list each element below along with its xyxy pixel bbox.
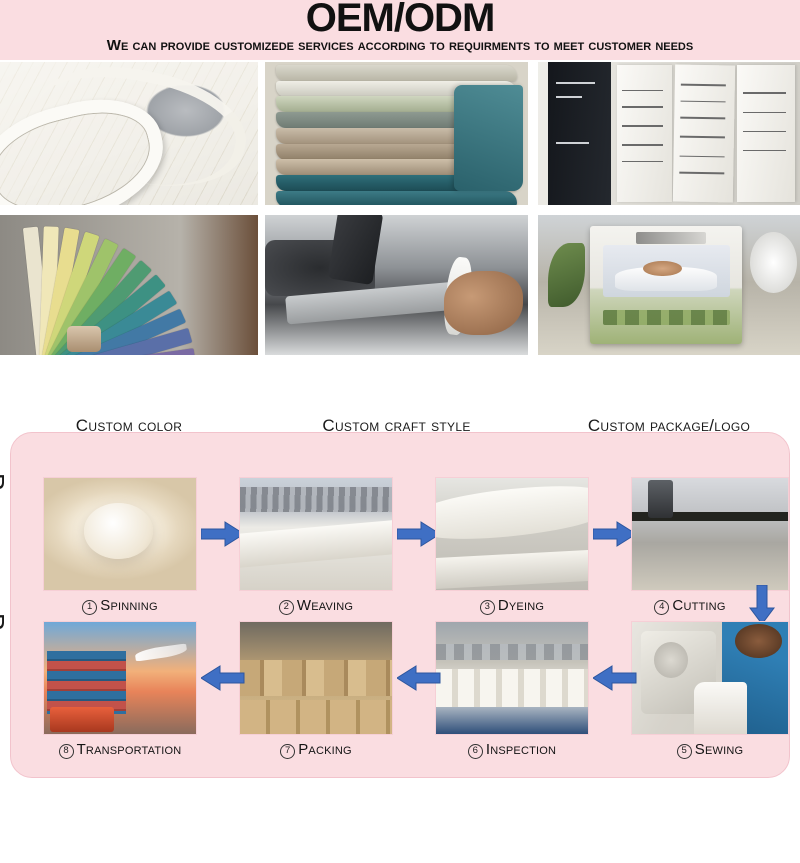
measuring-tape-graphic — [0, 62, 258, 205]
step-number-3: 3 — [480, 600, 495, 615]
step-number-8: 8 — [59, 744, 74, 759]
step-number-1: 1 — [82, 600, 97, 615]
pillow-package-box-graphic — [538, 215, 800, 355]
folded-fabric-graphic — [265, 62, 528, 205]
shipping-transport-graphic — [44, 622, 196, 734]
page-subtitle: We can provide customizede services acco… — [0, 38, 800, 54]
weaving-image — [239, 477, 393, 591]
step-text-cutting: Cutting — [672, 597, 725, 614]
color-fan-deck-graphic — [0, 215, 258, 355]
step-label-spinning: 1Spinning — [43, 597, 197, 615]
step-number-4: 4 — [654, 600, 669, 615]
step-number-6: 6 — [468, 744, 483, 759]
oem-odm-banner: OEM/ODM We can provide customizede servi… — [0, 0, 800, 60]
step-label-weaving: 2Weaving — [239, 597, 393, 615]
dyeing-machine-graphic — [436, 478, 588, 590]
step-text-packing: Packing — [298, 741, 352, 758]
step-label-dyeing: 3Dyeing — [435, 597, 589, 615]
step-number-2: 2 — [279, 600, 294, 615]
weaving-loom-graphic — [240, 478, 392, 590]
custom-package-logo-image — [538, 215, 800, 355]
step-label-inspection: 6Inspection — [435, 741, 589, 759]
step-label-sewing: 5Sewing — [631, 741, 789, 759]
sewing-craft-machine-graphic — [265, 215, 528, 355]
cutting-image — [631, 477, 789, 591]
custom-capabilities-grid: Custom size Custom fabric Custom label — [0, 60, 800, 390]
custom-size-image — [0, 62, 258, 205]
step-text-sewing: Sewing — [695, 741, 743, 758]
step-label-packing: 7Packing — [239, 741, 393, 759]
step-text-transportation: Transportation — [77, 741, 182, 758]
page-title: OEM/ODM — [0, 0, 800, 38]
step-text-dyeing: Dyeing — [498, 597, 544, 614]
step-text-inspection: Inspection — [486, 741, 556, 758]
arrow-down-1 — [749, 585, 775, 625]
step-label-cutting: 4Cutting — [623, 597, 757, 615]
sewing-image — [631, 621, 789, 735]
inspection-image — [435, 621, 589, 735]
inspection-line-graphic — [436, 622, 588, 734]
process-vertical-title-process: Process — [0, 613, 10, 863]
step-number-7: 7 — [280, 744, 295, 759]
transportation-image — [43, 621, 197, 735]
step-label-transportation: 8Transportation — [25, 741, 215, 759]
sewing-worker-graphic — [632, 622, 788, 734]
spinning-image — [43, 477, 197, 591]
packing-image — [239, 621, 393, 735]
step-number-5: 5 — [677, 744, 692, 759]
fiber-spinning-graphic — [44, 478, 196, 590]
arrow-left-2 — [397, 665, 441, 691]
warehouse-packing-graphic — [240, 622, 392, 734]
step-text-weaving: Weaving — [297, 597, 353, 614]
custom-fabric-image — [265, 62, 528, 205]
custom-label-image — [538, 62, 800, 205]
garment-labels-graphic — [538, 62, 800, 205]
fabric-cutting-machine-graphic — [632, 478, 788, 590]
dyeing-image — [435, 477, 589, 591]
step-text-spinning: Spinning — [100, 597, 157, 614]
custom-color-image — [0, 215, 258, 355]
arrow-left-1 — [593, 665, 637, 691]
product-process-panel: Product Process 1Spinning 2Weaving 3Dyei… — [10, 432, 790, 778]
custom-craft-style-image — [265, 215, 528, 355]
arrow-left-3 — [201, 665, 245, 691]
